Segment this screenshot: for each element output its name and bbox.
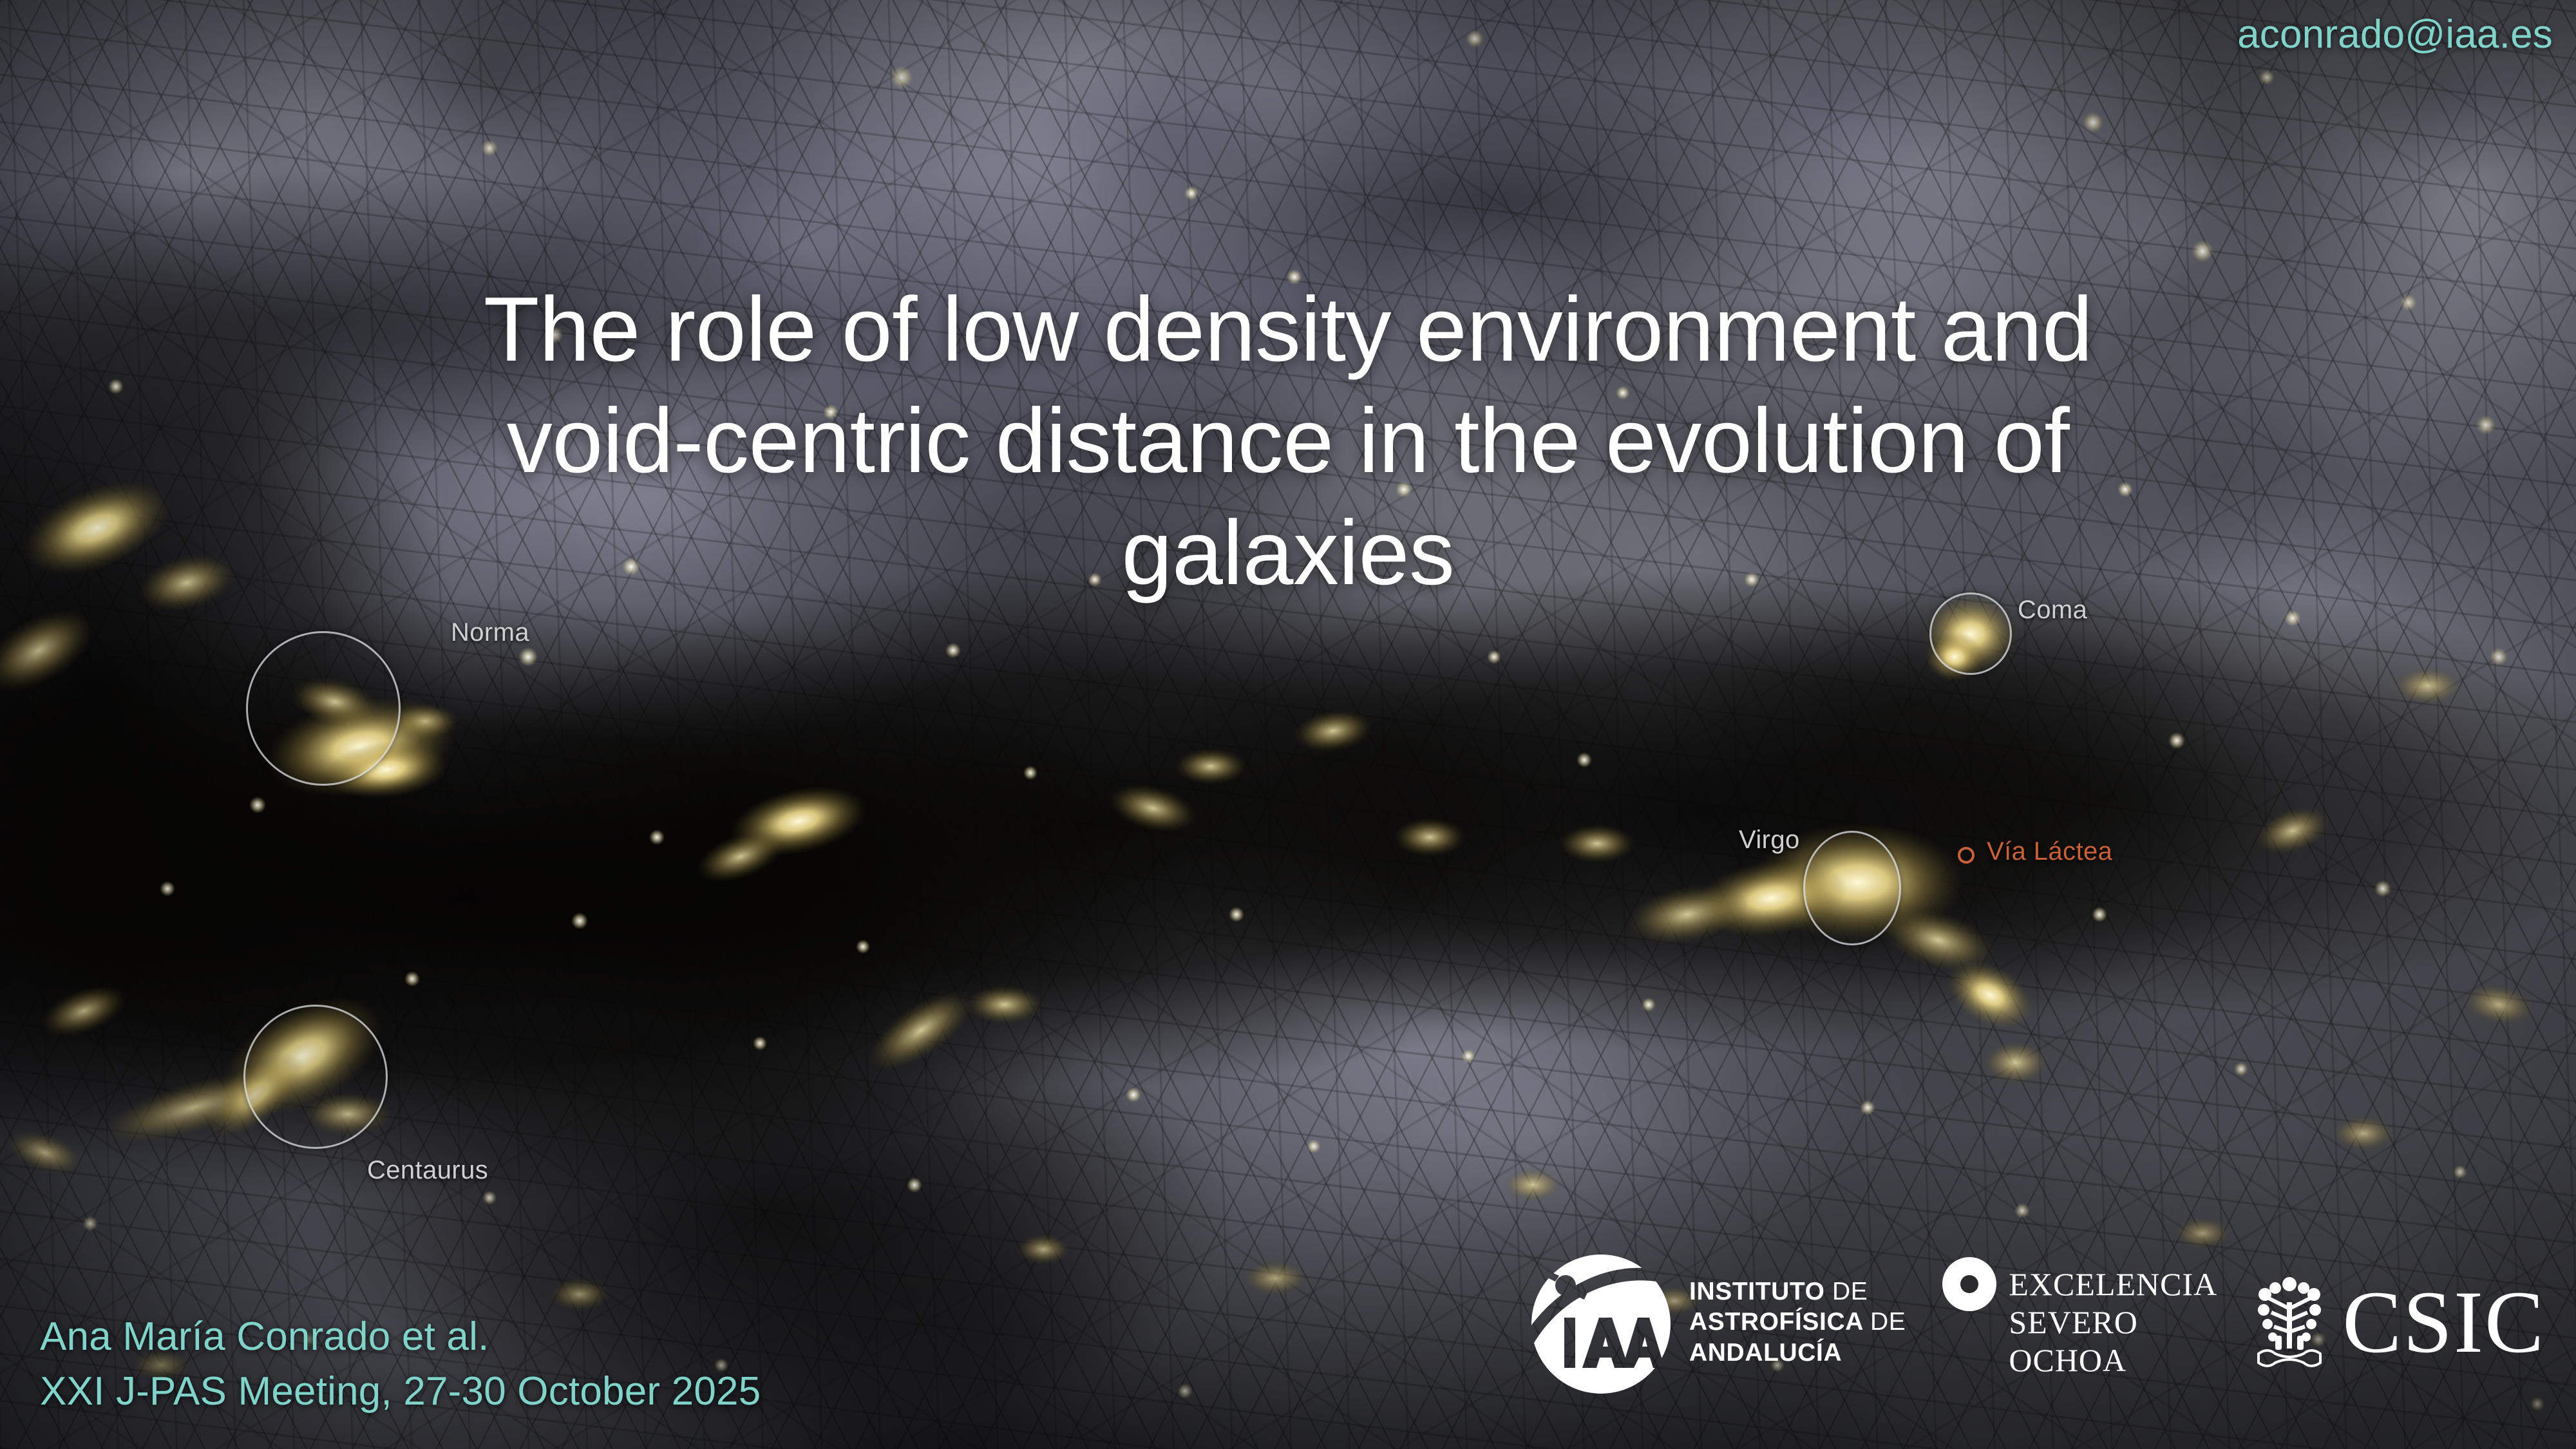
event-line: XXI J-PAS Meeting, 27-30 October 2025 (40, 1364, 761, 1419)
logo-severo-ochoa: EXCELENCIA SEVERO OCHOA (1942, 1255, 2217, 1390)
iaa-line-2-strong: ASTROFÍSICA (1689, 1308, 1863, 1336)
title-line-2: void-centric distance in the evolution o… (103, 385, 2473, 497)
iaa-line-1-strong: INSTITUTO (1689, 1278, 1825, 1305)
slide-footer: Ana María Conrado et al. XXI J-PAS Meeti… (0, 1179, 2576, 1449)
title-slide: Norma Coma Virgo Vía Láctea Centaurus ac… (0, 0, 2576, 1449)
page-title: The role of low density environment and … (103, 274, 2473, 609)
title-line-1: The role of low density environment and (103, 274, 2473, 385)
norma-circle-marker (246, 631, 401, 786)
logo-iaa: INSTITUTO DE ASTROFÍSICA DE ANDALUCÍA (1527, 1248, 1906, 1396)
so-line-3: OCHOA (2009, 1341, 2217, 1379)
so-line-1: EXCELENCIA (2009, 1265, 2217, 1303)
author-line: Ana María Conrado et al. (40, 1309, 761, 1365)
map-label-virgo: Virgo (1739, 826, 1800, 855)
iaa-line-3-strong: ANDALUCÍA (1689, 1339, 1842, 1367)
so-line-2: SEVERO (2009, 1303, 2217, 1341)
via-lactea-dot-marker (1958, 847, 1975, 864)
title-line-3: galaxies (103, 497, 2473, 609)
severo-ochoa-logo-icon (1942, 1255, 1997, 1390)
iaa-wordmark: INSTITUTO DE ASTROFÍSICA DE ANDALUCÍA (1689, 1276, 1906, 1368)
map-label-via-lactea: Vía Láctea (1987, 837, 2112, 866)
contact-email[interactable]: aconrado@iaa.es (2237, 12, 2553, 57)
logo-strip: INSTITUTO DE ASTROFÍSICA DE ANDALUCÍA (1527, 1248, 2545, 1425)
csic-wordmark: CSIC (2342, 1278, 2545, 1367)
credits-block: Ana María Conrado et al. XXI J-PAS Meeti… (40, 1309, 761, 1425)
virgo-circle-marker (1803, 831, 1901, 945)
iaa-line-2-light: DE (1870, 1308, 1906, 1336)
csic-crest-icon (2253, 1274, 2325, 1370)
iaa-line-1-light: DE (1832, 1278, 1868, 1305)
map-label-norma: Norma (451, 618, 529, 647)
iaa-logo-icon (1527, 1248, 1675, 1396)
centaurus-circle-marker (243, 1005, 388, 1149)
severo-ochoa-wordmark: EXCELENCIA SEVERO OCHOA (2009, 1265, 2217, 1379)
logo-csic: CSIC (2253, 1274, 2545, 1370)
